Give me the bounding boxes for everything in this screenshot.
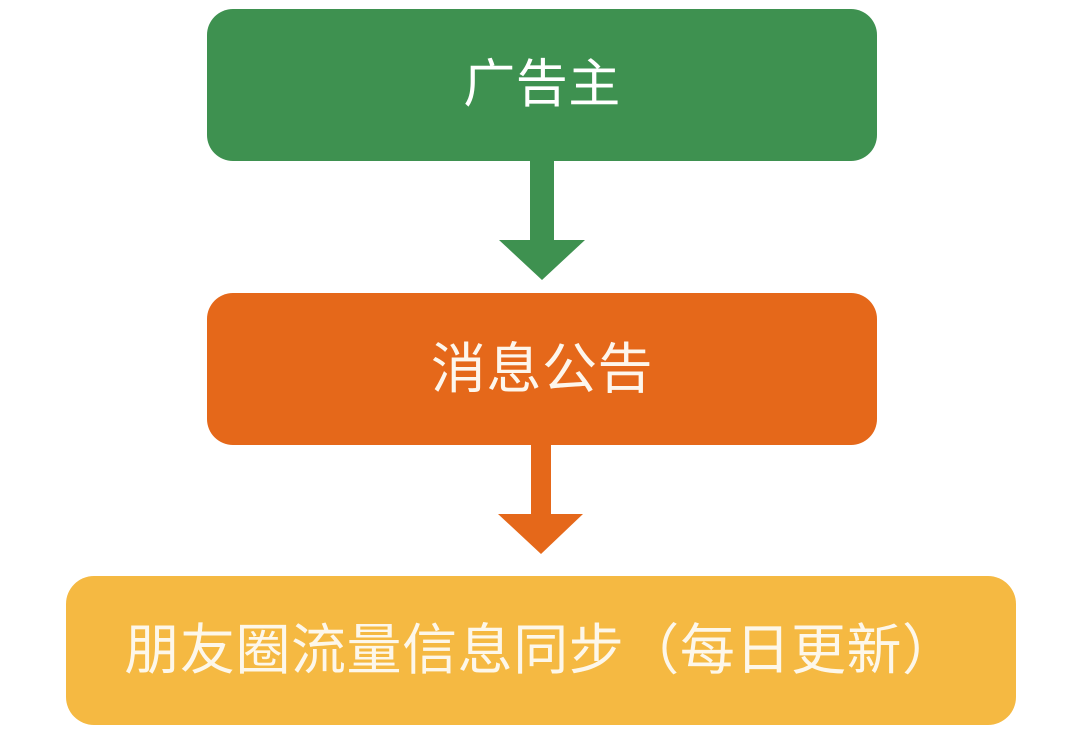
flowchart-canvas: 广告主 消息公告 朋友圈流量信息同步（每日更新） [0,0,1080,745]
flow-node-sync-label: 朋友圈流量信息同步（每日更新） [124,623,957,678]
down-arrow-icon-announcement-to-sync [490,442,594,554]
flow-node-advertiser-label: 广告主 [463,59,621,111]
flow-node-advertiser[interactable]: 广告主 [207,9,877,161]
flow-node-announcement-label: 消息公告 [431,342,653,397]
down-arrow-icon-advertiser-to-announcement [490,158,594,280]
flow-node-sync[interactable]: 朋友圈流量信息同步（每日更新） [66,576,1016,725]
flow-node-announcement[interactable]: 消息公告 [207,293,877,445]
